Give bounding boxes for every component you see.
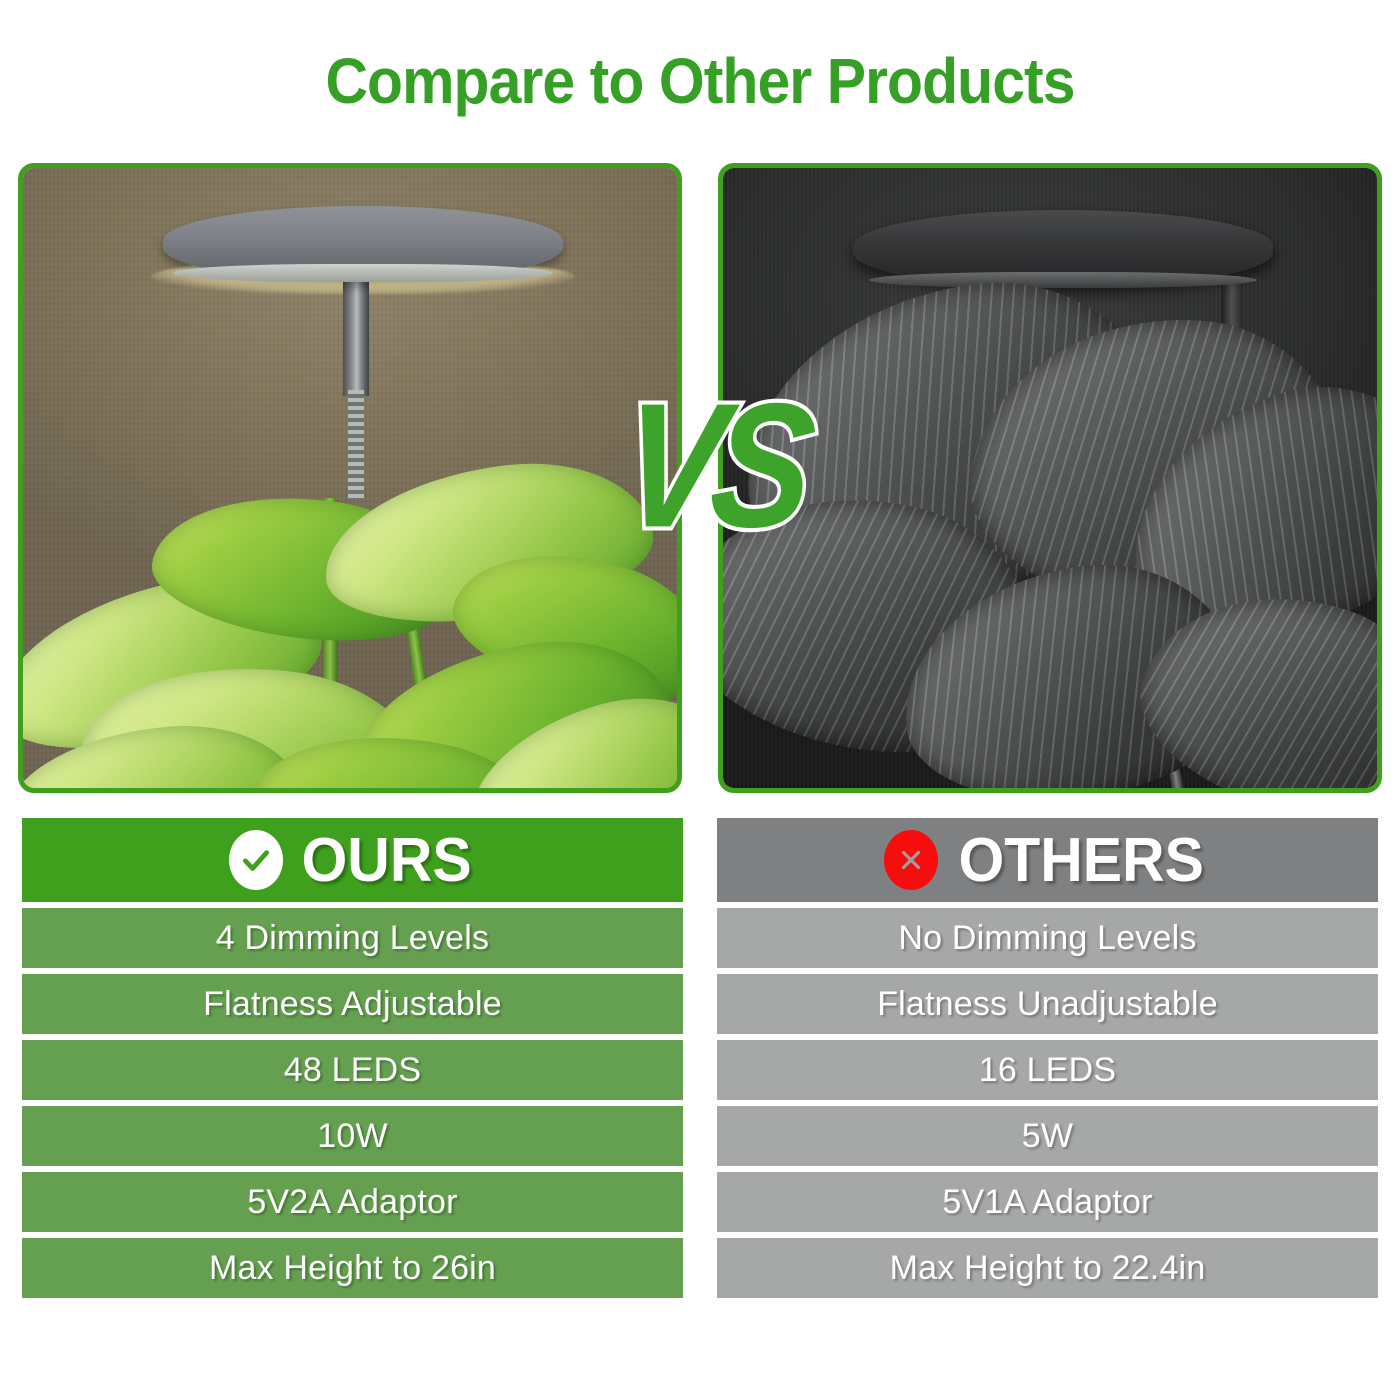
table-row: Max Height to 26in Max Height to 22.4in <box>22 1238 1378 1298</box>
feature-cell-others: 5W <box>717 1106 1378 1166</box>
ours-foliage <box>23 168 677 788</box>
feature-cell-ours: Flatness Adjustable <box>22 974 683 1034</box>
feature-cell-ours: 10W <box>22 1106 683 1166</box>
vs-label: VS <box>614 377 813 554</box>
table-row: 5V2A Adaptor 5V1A Adaptor <box>22 1172 1378 1232</box>
header-cell-others: OTHERS <box>717 818 1378 902</box>
cross-circle-icon <box>884 830 938 890</box>
header-label-others: OTHERS <box>959 825 1204 896</box>
table-row: 10W 5W <box>22 1106 1378 1166</box>
ours-photo-inner <box>23 168 677 788</box>
feature-cell-others: Max Height to 22.4in <box>717 1238 1378 1298</box>
page-title: Compare to Other Products <box>56 44 1344 118</box>
feature-cell-ours: 5V2A Adaptor <box>22 1172 683 1232</box>
others-product-photo <box>718 163 1382 793</box>
feature-cell-others: No Dimming Levels <box>717 908 1378 968</box>
comparison-infographic: Compare to Other Products <box>0 0 1400 1400</box>
ours-product-photo <box>18 163 682 793</box>
feature-cell-ours: 48 LEDS <box>22 1040 683 1100</box>
header-label-ours: OURS <box>301 825 471 896</box>
table-row: 4 Dimming Levels No Dimming Levels <box>22 908 1378 968</box>
table-row: 48 LEDS 16 LEDS <box>22 1040 1378 1100</box>
comparison-table: OURS OTHERS 4 Dimming Levels No Dimming … <box>22 818 1378 1304</box>
others-foliage <box>723 168 1377 788</box>
vs-badge: VS <box>628 370 798 560</box>
table-row: Flatness Adjustable Flatness Unadjustabl… <box>22 974 1378 1034</box>
header-cell-ours: OURS <box>22 818 683 902</box>
feature-cell-others: 5V1A Adaptor <box>717 1172 1378 1232</box>
feature-cell-ours: 4 Dimming Levels <box>22 908 683 968</box>
check-circle-icon <box>229 830 283 890</box>
others-photo-inner <box>723 168 1377 788</box>
feature-cell-others: 16 LEDS <box>717 1040 1378 1100</box>
feature-cell-others: Flatness Unadjustable <box>717 974 1378 1034</box>
table-header-row: OURS OTHERS <box>22 818 1378 902</box>
feature-cell-ours: Max Height to 26in <box>22 1238 683 1298</box>
